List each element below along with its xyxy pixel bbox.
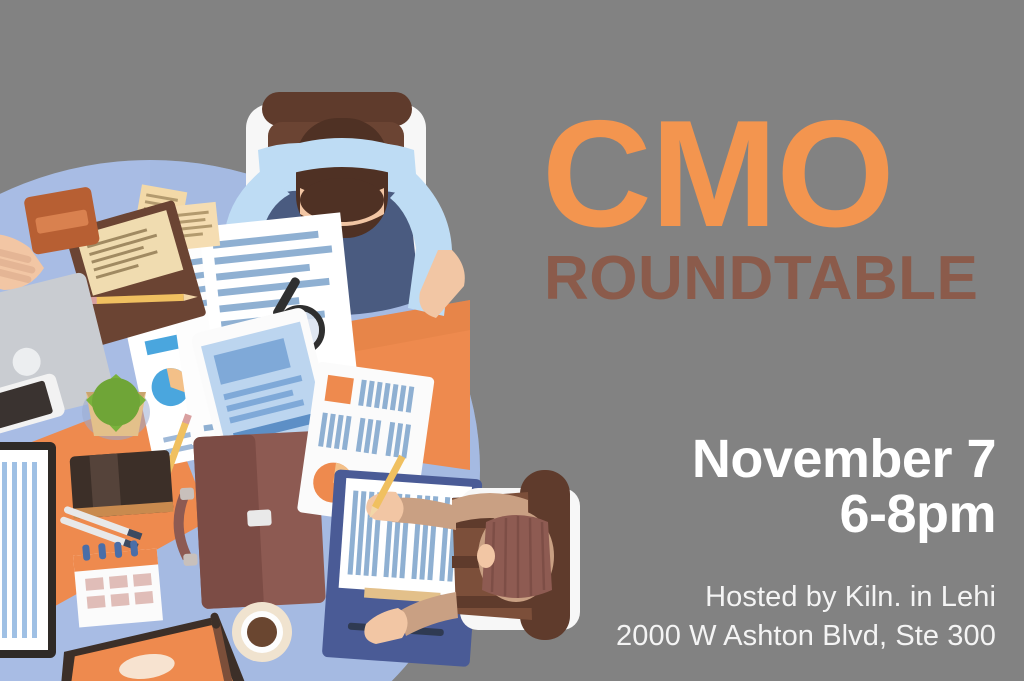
venue-address: 2000 W Ashton Blvd, Ste 300 xyxy=(436,617,996,656)
venue-host: Hosted by Kiln. in Lehi xyxy=(436,578,996,617)
event-date: November 7 xyxy=(476,432,996,487)
event-poster: CMO ROUNDTABLE November 7 6-8pm Hosted b… xyxy=(0,0,1024,681)
page-subtitle: ROUNDTABLE xyxy=(544,248,1000,310)
desk-calendar xyxy=(72,539,163,628)
coffee-cup xyxy=(232,602,292,662)
wallet xyxy=(23,186,100,255)
event-venue-block: Hosted by Kiln. in Lehi 2000 W Ashton Bl… xyxy=(436,578,996,655)
organizer-case xyxy=(69,450,173,519)
page-title: CMO xyxy=(542,108,1000,242)
monitor-screen xyxy=(0,442,56,658)
headline-block: CMO ROUNDTABLE xyxy=(520,108,1000,310)
event-datetime-block: November 7 6-8pm xyxy=(476,432,996,542)
event-time: 6-8pm xyxy=(476,487,996,542)
